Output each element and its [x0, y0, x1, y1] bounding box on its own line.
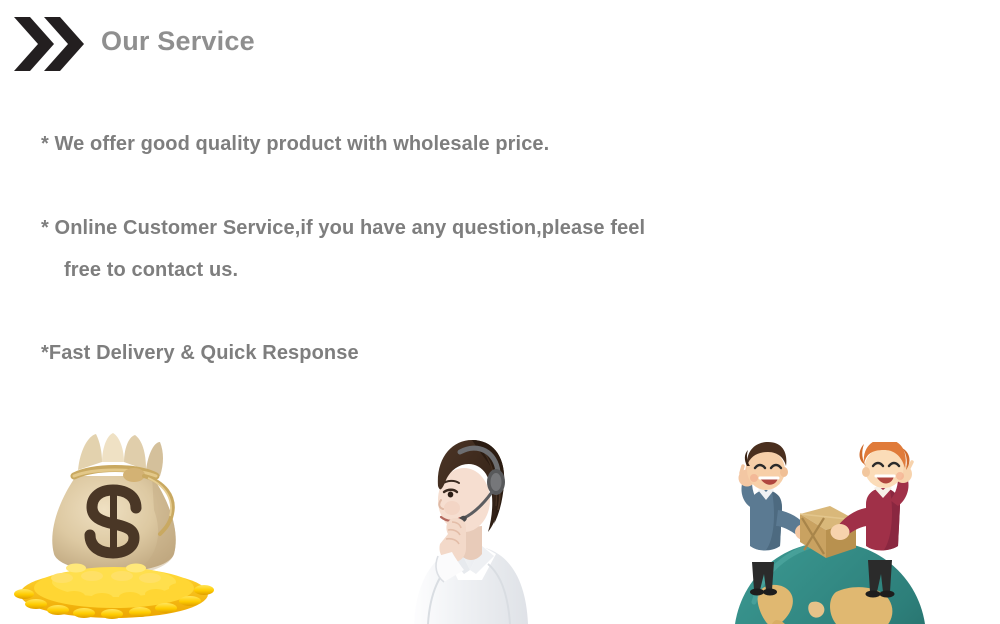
money-bag-with-gold-coins-image — [14, 428, 214, 624]
service-point-fast-delivery: *Fast Delivery & Quick Response — [41, 342, 359, 365]
service-point-quality-price: * We offer good quality product with who… — [41, 133, 549, 156]
our-service-panel: Our Service * We offer good quality prod… — [0, 0, 1000, 624]
page-title: Our Service — [101, 26, 255, 57]
service-point-online-support-continued: free to contact us. — [64, 259, 238, 282]
global-delivery-illustration — [724, 442, 936, 624]
customer-service-agent-photo — [408, 430, 530, 624]
section-header: Our Service — [0, 0, 1000, 90]
service-imagery-row — [0, 420, 1000, 624]
double-chevron-right-icon — [10, 13, 90, 75]
service-point-online-support: * Online Customer Service,if you have an… — [41, 217, 645, 240]
